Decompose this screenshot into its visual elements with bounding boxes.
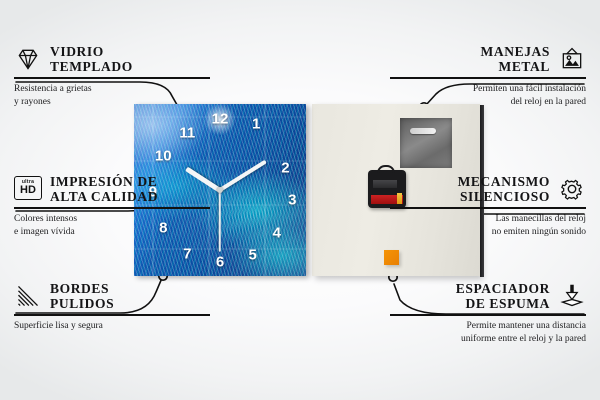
clock-numeral-2: 2 <box>281 160 289 175</box>
callout-title: MECANISMOSILENCIOSO <box>458 174 550 204</box>
infographic-canvas: 12 1 2 3 4 5 6 7 8 9 10 11 <box>0 0 600 400</box>
callout-espaciador-espuma: ESPACIADORDE ESPUMA Permite mantener una… <box>390 281 586 345</box>
clock-second-hand <box>219 190 221 252</box>
callout-header: MANEJASMETAL <box>390 44 586 74</box>
callout-header: MECANISMOSILENCIOSO <box>390 174 586 204</box>
diamond-icon <box>14 46 42 72</box>
callout-header: VIDRIOTEMPLADO <box>14 44 210 74</box>
callout-title: MANEJASMETAL <box>481 44 550 74</box>
clock-center-pin <box>217 187 223 193</box>
framed-picture-hanging-icon <box>558 46 586 72</box>
callout-mecanismo-silencioso: MECANISMOSILENCIOSO Las manecillas del r… <box>390 174 586 238</box>
callout-vidrio-templado: VIDRIOTEMPLADO Resistencia a grietasy ra… <box>14 44 210 108</box>
down-arrow-onto-layer-icon <box>558 283 586 309</box>
clock-numeral-10: 10 <box>155 148 172 163</box>
callout-subtitle: Colores intensose imagen vívida <box>14 213 210 239</box>
mechanism-handle <box>377 165 395 174</box>
callout-divider <box>14 314 210 316</box>
foam-spacer-square <box>384 250 399 265</box>
callout-header: BORDESPULIDOS <box>14 281 210 311</box>
clock-numeral-4: 4 <box>273 226 281 241</box>
ultra-hd-icon: ultra HD <box>14 176 42 202</box>
callout-title: ESPACIADORDE ESPUMA <box>456 281 550 311</box>
callout-title: VIDRIOTEMPLADO <box>50 44 133 74</box>
callout-title: IMPRESIÓN DEALTA CALIDAD <box>50 174 158 204</box>
metal-hanger-plate <box>400 118 452 168</box>
callout-header: ESPACIADORDE ESPUMA <box>390 281 586 311</box>
callout-title: BORDESPULIDOS <box>50 281 114 311</box>
callout-divider <box>390 207 586 209</box>
clock-numeral-7: 7 <box>183 246 191 261</box>
callout-header: ultra HD IMPRESIÓN DEALTA CALIDAD <box>14 174 210 204</box>
callout-divider <box>390 314 586 316</box>
callout-subtitle: Las manecillas del relojno emiten ningún… <box>390 213 586 239</box>
gear-icon <box>558 176 586 202</box>
callout-divider <box>14 77 210 79</box>
clock-numeral-5: 5 <box>249 248 257 263</box>
clock-numeral-12: 12 <box>212 112 229 127</box>
callout-bordes-pulidos: BORDESPULIDOS Superficie lisa y segura <box>14 281 210 333</box>
callout-subtitle: Superficie lisa y segura <box>14 320 210 333</box>
callout-divider <box>14 207 210 209</box>
callout-impresion-alta-calidad: ultra HD IMPRESIÓN DEALTA CALIDAD Colore… <box>14 174 210 238</box>
callout-manejas-metal: MANEJASMETAL Permiten una fácil instalac… <box>390 44 586 108</box>
callout-divider <box>390 77 586 79</box>
clock-numeral-6: 6 <box>216 255 224 270</box>
callout-subtitle: Permite mantener una distanciauniforme e… <box>390 320 586 346</box>
callout-subtitle: Permiten una fácil instalacióndel reloj … <box>390 83 586 109</box>
diagonal-lines-icon <box>14 283 42 309</box>
clock-numeral-1: 1 <box>252 117 260 132</box>
callout-subtitle: Resistencia a grietasy rayones <box>14 83 210 109</box>
clock-numeral-3: 3 <box>288 193 296 208</box>
clock-numeral-11: 11 <box>179 126 195 141</box>
